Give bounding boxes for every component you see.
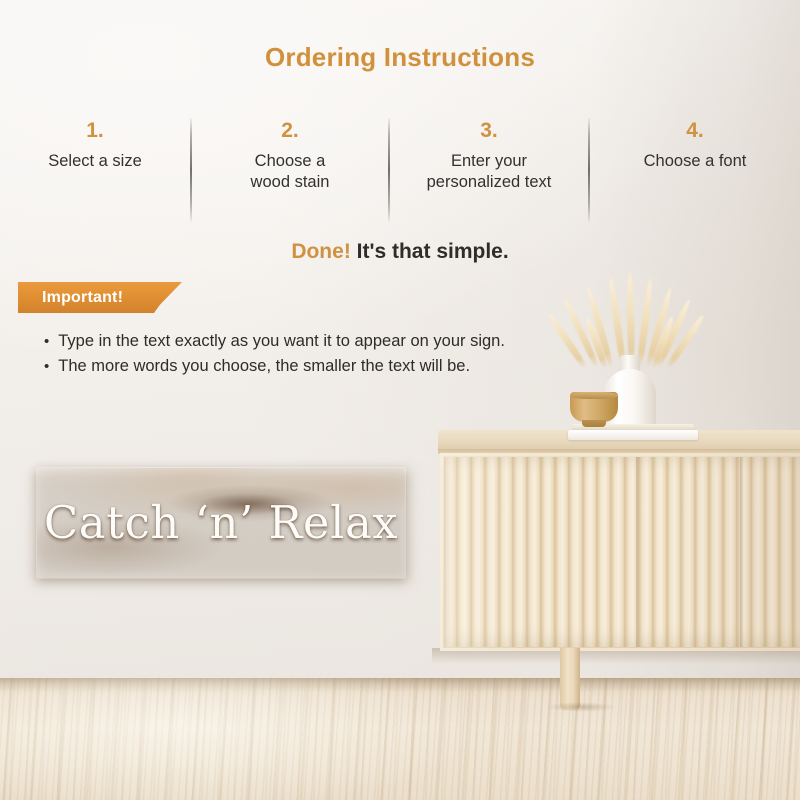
- list-item-text: The more words you choose, the smaller t…: [58, 355, 470, 378]
- steps-row: 1. Select a size 2. Choose awood stain 3…: [0, 118, 800, 218]
- list-item-text: Type in the text exactly as you want it …: [58, 330, 505, 353]
- important-ribbon: Important!: [18, 282, 176, 313]
- step-number: 3.: [390, 118, 588, 144]
- step-label: Select a size: [0, 151, 190, 172]
- step-number: 4.: [590, 118, 800, 144]
- page-title: Ordering Instructions: [0, 42, 800, 73]
- important-ribbon-label: Important!: [42, 289, 123, 307]
- list-item: • Type in the text exactly as you want i…: [44, 330, 664, 353]
- step-label: Choose a font: [590, 151, 800, 172]
- step-number: 1.: [0, 118, 190, 144]
- done-highlight: Done!: [291, 240, 351, 263]
- step-item-4: 4. Choose a font: [590, 118, 800, 172]
- step-label: Choose awood stain: [192, 151, 388, 193]
- important-bullet-list: • Type in the text exactly as you want i…: [44, 330, 664, 380]
- bullet-dot-icon: •: [44, 330, 49, 353]
- list-item: • The more words you choose, the smaller…: [44, 355, 664, 378]
- step-item-1: 1. Select a size: [0, 118, 190, 172]
- step-item-2: 2. Choose awood stain: [192, 118, 388, 193]
- instructions-overlay: Ordering Instructions 1. Select a size 2…: [0, 0, 800, 800]
- step-number: 2.: [192, 118, 388, 144]
- done-statement: Done! It's that simple.: [0, 240, 800, 264]
- step-item-3: 3. Enter yourpersonalized text: [390, 118, 588, 193]
- done-rest: It's that simple.: [357, 240, 509, 263]
- bullet-dot-icon: •: [44, 355, 49, 378]
- step-label: Enter yourpersonalized text: [390, 151, 588, 193]
